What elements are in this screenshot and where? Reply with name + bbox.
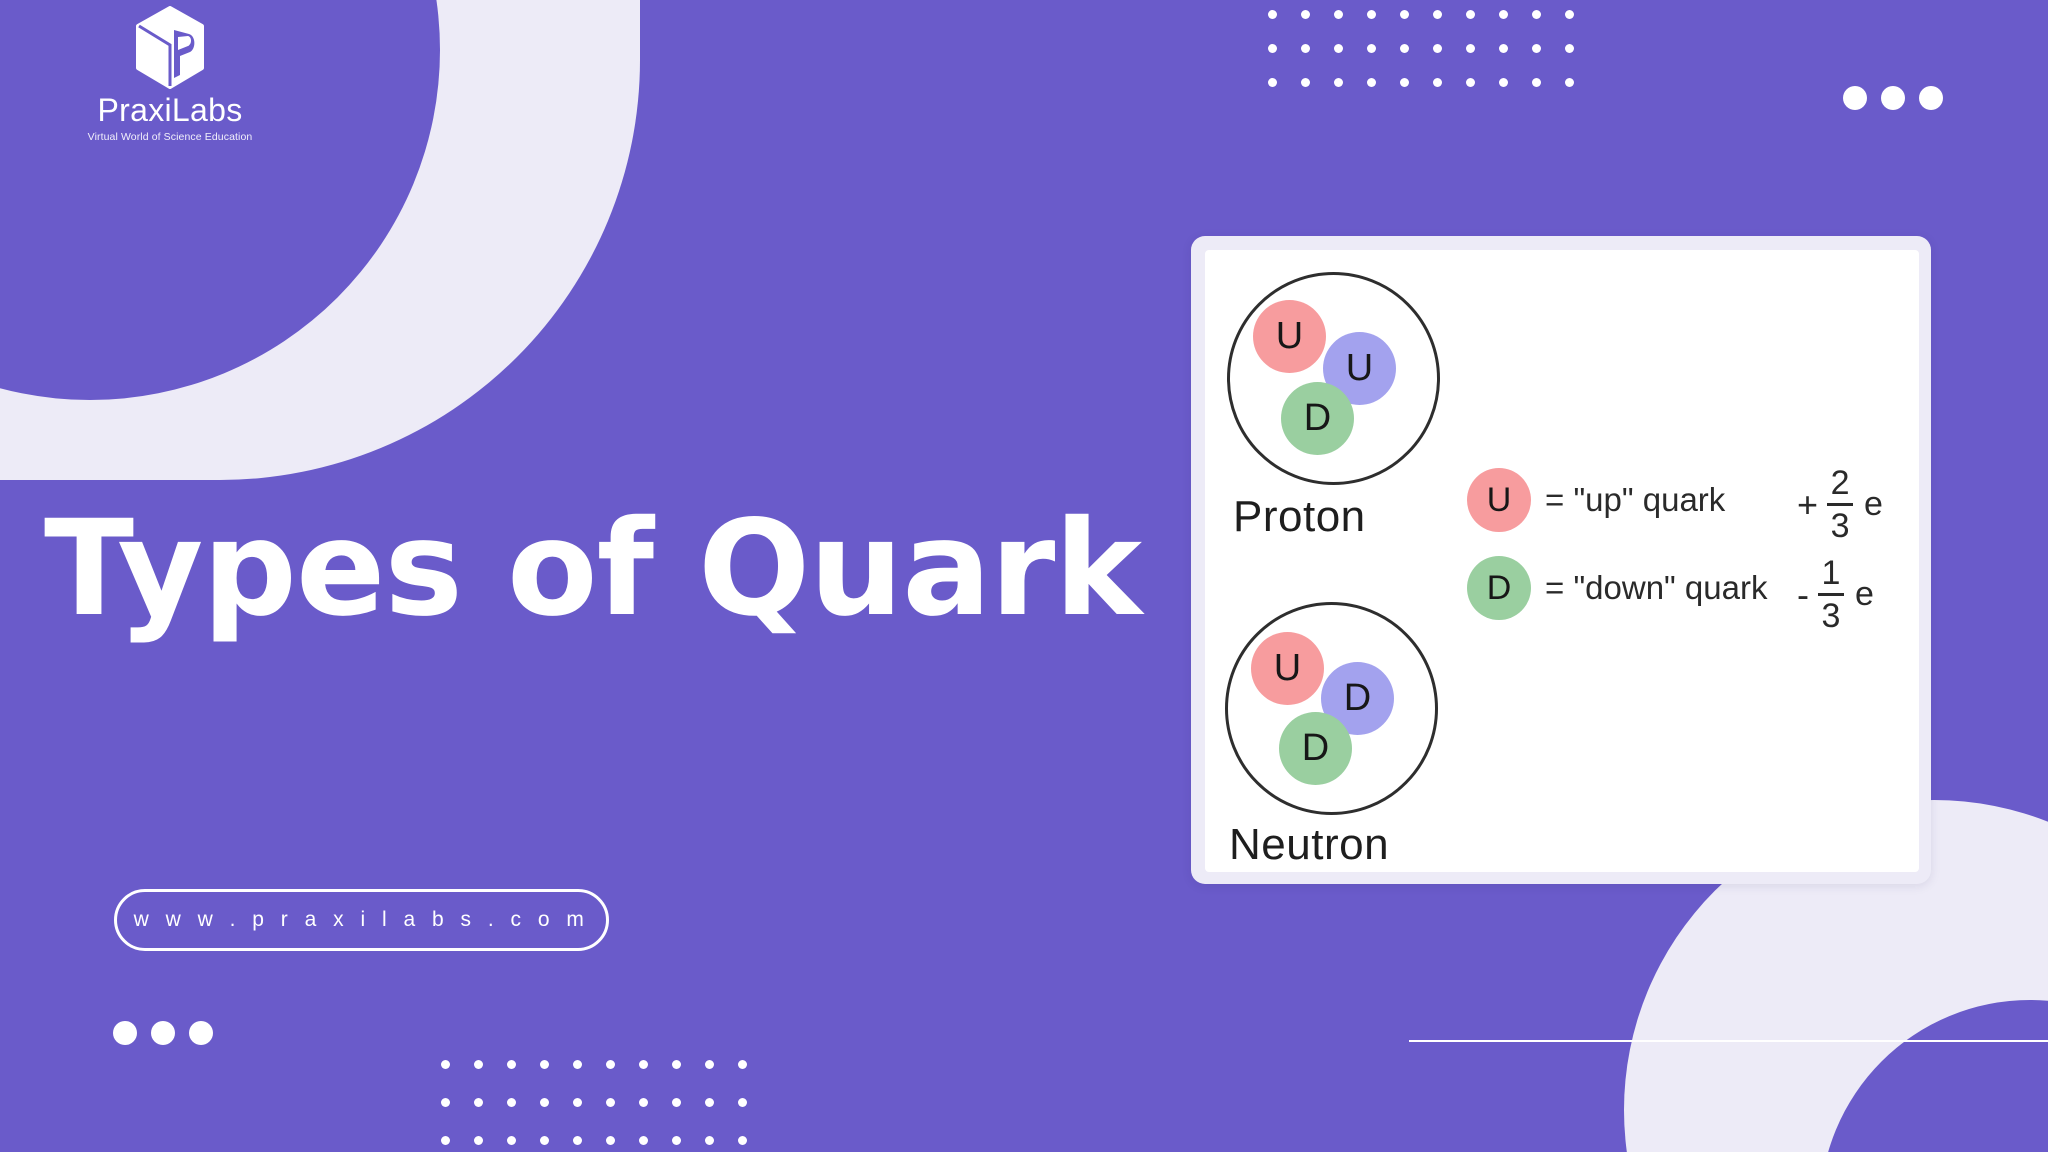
dot-icon	[1400, 10, 1409, 19]
dot-icon	[441, 1098, 450, 1107]
dot-icon	[1565, 78, 1574, 87]
charge-numerator-up: 2	[1831, 466, 1850, 500]
neutron-caption: Neutron	[1229, 820, 1389, 870]
dot-icon	[705, 1136, 714, 1145]
triple-dot-top-right	[1843, 86, 1943, 110]
dot-icon	[507, 1098, 516, 1107]
legend-swatch-up: U	[1467, 468, 1531, 532]
charge-sign-up: +	[1797, 484, 1818, 526]
dot-icon	[1334, 10, 1343, 19]
dot-icon	[1301, 10, 1310, 19]
quark-symbol: U	[1346, 347, 1373, 390]
slide-canvas: PraxiLabs Virtual World of Science Educa…	[0, 0, 2048, 1152]
charge-denominator-down: 3	[1822, 599, 1841, 633]
dot-icon	[1499, 44, 1508, 53]
dot-icon	[474, 1136, 483, 1145]
dot-icon	[1919, 86, 1943, 110]
dot-icon	[189, 1021, 213, 1045]
quark-symbol: D	[1344, 677, 1371, 720]
legend-label-down: = "down" quark	[1545, 569, 1767, 607]
dot-icon	[507, 1136, 516, 1145]
dot-icon	[1301, 78, 1310, 87]
dot-icon	[738, 1136, 747, 1145]
charge-unit-up: e	[1864, 485, 1883, 524]
dot-icon	[1367, 44, 1376, 53]
charge-unit-down: e	[1855, 575, 1874, 614]
dot-icon	[573, 1098, 582, 1107]
dot-grid-bottom	[441, 1060, 771, 1152]
fraction-bar	[1818, 593, 1844, 596]
quark-diagram-card: U U D Proton U D D Neutron	[1191, 236, 1931, 884]
dot-icon	[507, 1060, 516, 1069]
dot-icon	[1843, 86, 1867, 110]
dot-icon	[672, 1060, 681, 1069]
dot-icon	[540, 1060, 549, 1069]
charge-sign-down: -	[1797, 574, 1809, 616]
quark-symbol: D	[1302, 727, 1329, 770]
dot-icon	[606, 1060, 615, 1069]
legend-label-up: = "up" quark	[1545, 481, 1725, 519]
dot-icon	[639, 1060, 648, 1069]
quark-symbol: U	[1276, 315, 1303, 358]
charge-fraction-up: 2 3	[1827, 466, 1853, 543]
quark-symbol: U	[1274, 647, 1301, 690]
fraction-bar	[1827, 503, 1853, 506]
dot-icon	[474, 1060, 483, 1069]
dot-icon	[738, 1098, 747, 1107]
brand-logo: PraxiLabs Virtual World of Science Educa…	[60, 6, 280, 143]
dot-icon	[672, 1098, 681, 1107]
dot-grid-top	[1268, 10, 1598, 112]
bottom-right-divider-line	[1409, 1040, 2048, 1042]
dot-icon	[1466, 78, 1475, 87]
charge-denominator-up: 3	[1831, 509, 1850, 543]
brand-name: PraxiLabs	[60, 94, 280, 126]
dot-icon	[1565, 44, 1574, 53]
quark-symbol: U	[1487, 481, 1512, 520]
page-title: Types of Quark	[44, 498, 1124, 641]
dot-icon	[540, 1098, 549, 1107]
dot-icon	[474, 1098, 483, 1107]
dot-icon	[738, 1060, 747, 1069]
legend-row-down-quark: D = "down" quark	[1467, 556, 1767, 620]
dot-icon	[1301, 44, 1310, 53]
dot-icon	[1334, 44, 1343, 53]
dot-icon	[1532, 78, 1541, 87]
dot-icon	[1466, 44, 1475, 53]
dot-icon	[1268, 78, 1277, 87]
dot-icon	[441, 1060, 450, 1069]
dot-icon	[1400, 44, 1409, 53]
dot-icon	[1367, 78, 1376, 87]
triple-dot-bottom-left	[113, 1021, 213, 1045]
dot-icon	[151, 1021, 175, 1045]
legend-swatch-down: D	[1467, 556, 1531, 620]
dot-icon	[1400, 78, 1409, 87]
proton-quark-down-1: D	[1281, 382, 1354, 455]
dot-icon	[1466, 10, 1475, 19]
dot-icon	[1499, 78, 1508, 87]
neutron-quark-down-2: D	[1279, 712, 1352, 785]
dot-icon	[1433, 44, 1442, 53]
proton-caption: Proton	[1233, 492, 1366, 542]
quark-symbol: D	[1304, 397, 1331, 440]
praxilabs-cube-logo-icon	[133, 6, 207, 90]
dot-icon	[1268, 44, 1277, 53]
legend-charge-up: + 2 3 e	[1797, 466, 1883, 543]
dot-icon	[705, 1098, 714, 1107]
website-url-pill[interactable]: w w w . p r a x i l a b s . c o m	[114, 889, 609, 951]
dot-icon	[1532, 10, 1541, 19]
legend-row-up-quark: U = "up" quark	[1467, 468, 1725, 532]
dot-icon	[1268, 10, 1277, 19]
dot-icon	[606, 1136, 615, 1145]
dot-icon	[1881, 86, 1905, 110]
dot-icon	[441, 1136, 450, 1145]
dot-icon	[1334, 78, 1343, 87]
dot-icon	[1367, 10, 1376, 19]
dot-icon	[1532, 44, 1541, 53]
dot-icon	[113, 1021, 137, 1045]
quark-symbol: D	[1487, 569, 1512, 608]
dot-icon	[1499, 10, 1508, 19]
dot-icon	[1433, 78, 1442, 87]
proton-quark-up-1: U	[1253, 300, 1326, 373]
dot-icon	[639, 1136, 648, 1145]
quark-diagram-image: U U D Proton U D D Neutron	[1205, 250, 1919, 872]
dot-icon	[573, 1136, 582, 1145]
legend-charge-down: - 1 3 e	[1797, 556, 1874, 633]
dot-icon	[639, 1098, 648, 1107]
neutron-quark-up-1: U	[1251, 632, 1324, 705]
charge-numerator-down: 1	[1822, 556, 1841, 590]
dot-icon	[606, 1098, 615, 1107]
dot-icon	[1433, 10, 1442, 19]
dot-icon	[672, 1136, 681, 1145]
dot-icon	[1565, 10, 1574, 19]
dot-icon	[540, 1136, 549, 1145]
website-url-label: w w w . p r a x i l a b s . c o m	[134, 908, 590, 932]
dot-icon	[573, 1060, 582, 1069]
dot-icon	[705, 1060, 714, 1069]
brand-tagline: Virtual World of Science Education	[60, 131, 280, 143]
charge-fraction-down: 1 3	[1818, 556, 1844, 633]
